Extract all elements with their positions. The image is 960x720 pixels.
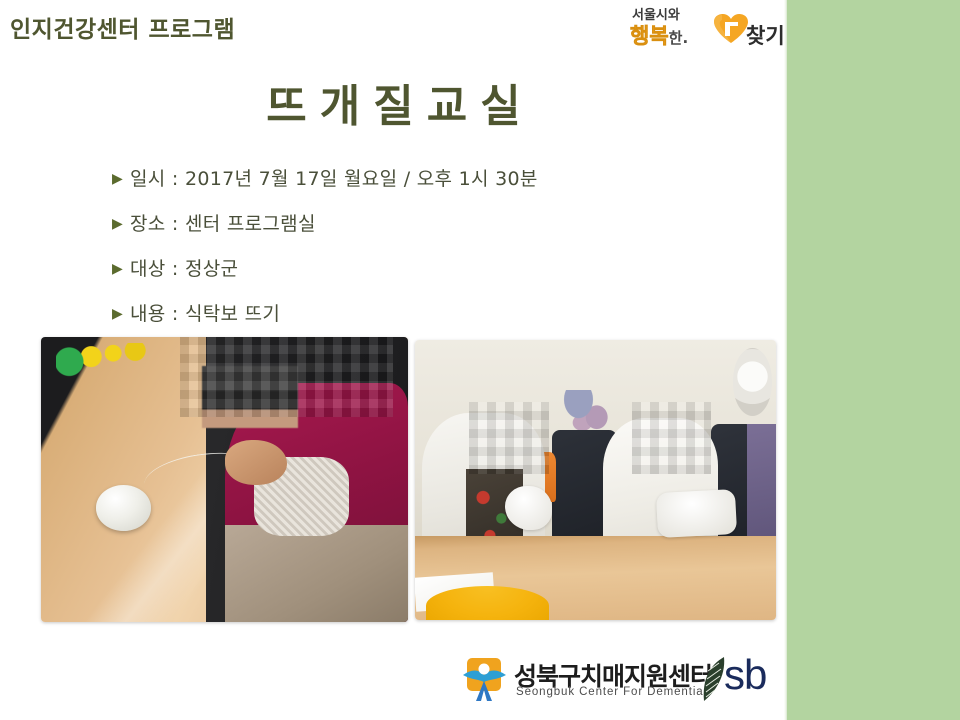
photo-participants-table <box>415 340 776 620</box>
triangle-right-icon: ▶ <box>112 306 130 320</box>
photo-content <box>415 340 776 620</box>
photo2-person-far-right <box>747 424 776 553</box>
main-title: 뜨개질교실 <box>0 70 787 134</box>
photo1-hand <box>225 440 287 486</box>
seoul-logo-han: 한. <box>669 29 689 47</box>
photo2-knitwork-left <box>505 486 552 531</box>
photo1-pixelation-mask <box>180 337 393 417</box>
seoul-logo-happy: 행복 <box>630 24 669 48</box>
triangle-right-icon: ▶ <box>112 171 130 185</box>
triangle-right-icon: ▶ <box>112 216 130 230</box>
seongbuk-person-icon <box>462 657 507 702</box>
photo-knitting-hands <box>41 337 408 622</box>
footer-sb-mark: sb <box>724 654 766 696</box>
photo1-reflection <box>41 623 408 695</box>
photo-content <box>41 337 408 622</box>
footer-english-name: Seongbuk Center For Dementia <box>516 686 704 698</box>
slide-canvas: 咏 인지건강센터 프로그램 서울시와 행복한. 찾기 뜨개질교실 ▶ 일시 : … <box>0 0 960 720</box>
photo2-yellow-cloth <box>426 586 549 620</box>
page-title: 인지건강센터 프로그램 <box>10 10 235 44</box>
list-item: ▶ 일시 : 2017년 7월 17일 월요일 / 오후 1시 30분 <box>112 155 732 200</box>
list-item: ▶ 대상 : 정상군 <box>112 245 732 290</box>
photo2-face-pixelation-left <box>469 402 548 475</box>
seoul-happy-logo: 서울시와 행복한. 찾기 <box>628 4 780 52</box>
photo2-fan <box>733 348 773 415</box>
seoul-logo-line3: 찾기 <box>746 20 785 50</box>
list-item-label: 장소 : 센터 프로그램실 <box>130 209 316 236</box>
photo1-yarn-spools <box>56 343 166 377</box>
list-item-label: 내용 : 식탁보 뜨기 <box>130 299 280 326</box>
seoul-logo-line2: 행복한. <box>630 20 688 50</box>
photo2-knitwork-right <box>656 489 738 538</box>
detail-list: ▶ 일시 : 2017년 7월 17일 월요일 / 오후 1시 30분 ▶ 장소… <box>112 155 732 335</box>
list-item: ▶ 내용 : 식탁보 뜨기 <box>112 290 732 335</box>
decorative-green-panel: 咏 <box>787 0 960 720</box>
heart-icon <box>714 14 748 44</box>
list-item: ▶ 장소 : 센터 프로그램실 <box>112 200 732 245</box>
footer-organization-logo: 성북구치매지원센터 Seongbuk Center For Dementia s… <box>462 655 767 707</box>
list-item-label: 대상 : 정상군 <box>130 254 238 281</box>
list-item-label: 일시 : 2017년 7월 17일 월요일 / 오후 1시 30분 <box>130 164 538 191</box>
photo1-yarn-ball <box>96 485 151 531</box>
photo2-face-pixelation-right <box>632 402 711 475</box>
triangle-right-icon: ▶ <box>112 261 130 275</box>
photo1-person-lower <box>225 525 409 622</box>
